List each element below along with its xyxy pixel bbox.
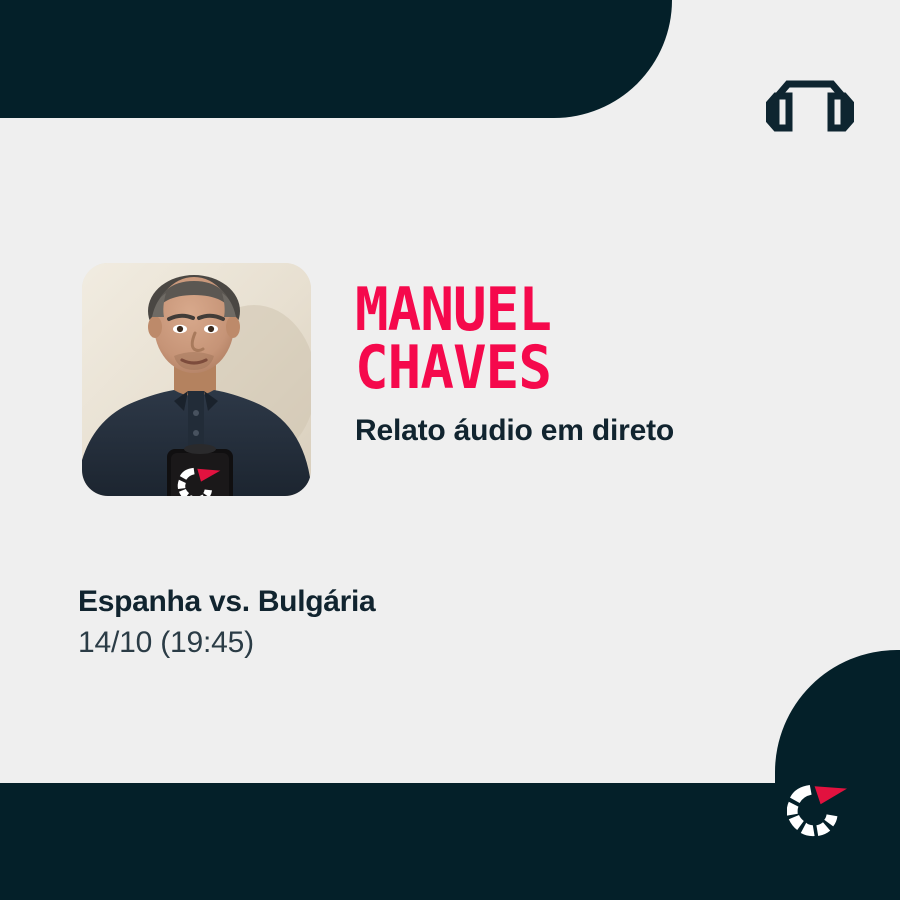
bottom-right-dark-panel xyxy=(775,650,900,900)
talent-role: Relato áudio em direto xyxy=(355,414,855,448)
broadcast-promo-card: MANUEL CHAVES Relato áudio em direto Esp… xyxy=(0,0,900,900)
record-logo-icon xyxy=(787,779,847,839)
bottom-dark-band xyxy=(0,783,900,900)
match-info-block: Espanha vs. Bulgária 14/10 (19:45) xyxy=(78,585,678,660)
talent-photo xyxy=(82,263,311,496)
match-datetime: 14/10 (19:45) xyxy=(78,626,678,660)
talent-name-block: MANUEL CHAVES Relato áudio em direto xyxy=(355,281,855,448)
talent-name-line-2: CHAVES xyxy=(355,339,820,397)
match-title: Espanha vs. Bulgária xyxy=(78,585,678,619)
talent-name-line-1: MANUEL xyxy=(355,281,820,339)
headphones-icon xyxy=(766,60,854,134)
top-dark-band xyxy=(0,0,672,118)
